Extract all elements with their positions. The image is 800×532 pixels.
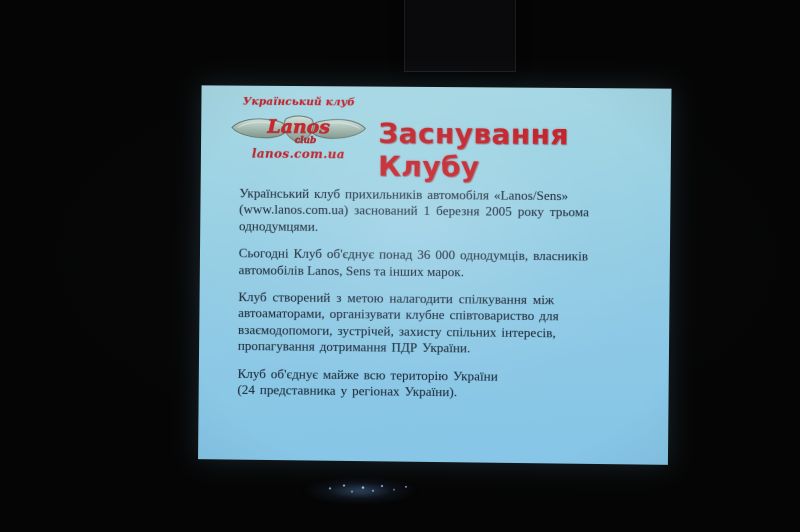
projection-screen: Український клуб (198, 85, 671, 464)
svg-text:club: club (295, 135, 317, 145)
paragraph-members: Сьогодні Клуб об'єднує понад 36 000 одно… (239, 245, 644, 282)
lanos-wing-badge-icon: Lanos club (224, 108, 374, 149)
paragraph-founding: Український клуб прихильників автомобіля… (239, 185, 644, 238)
presentation-slide: Український клуб (198, 85, 671, 464)
paragraph-purpose: Клуб створений з метою налагодити спілку… (238, 289, 644, 359)
paragraph-line: пропагування дотримання ПДР України. (238, 338, 643, 359)
lanos-club-logo: Український клуб (223, 96, 375, 161)
floor-reflection-speckle (318, 482, 418, 498)
paragraph-line: (24 представника у регіонах України). (237, 382, 642, 403)
logo-top-text: Український клуб (223, 96, 375, 108)
floor-reflection-glow (300, 478, 450, 518)
wall-picture-frame (404, 0, 516, 72)
slide-body: Український клуб прихильників автомобіля… (237, 185, 644, 402)
slide-header: Український клуб (201, 93, 672, 175)
photo-scene: Український клуб (0, 0, 800, 532)
paragraph-coverage: Клуб об'єднує майже всю територію Україн… (237, 366, 642, 403)
slide-title: Заснування Клубу (378, 117, 663, 185)
svg-text:Lanos: Lanos (266, 115, 330, 137)
